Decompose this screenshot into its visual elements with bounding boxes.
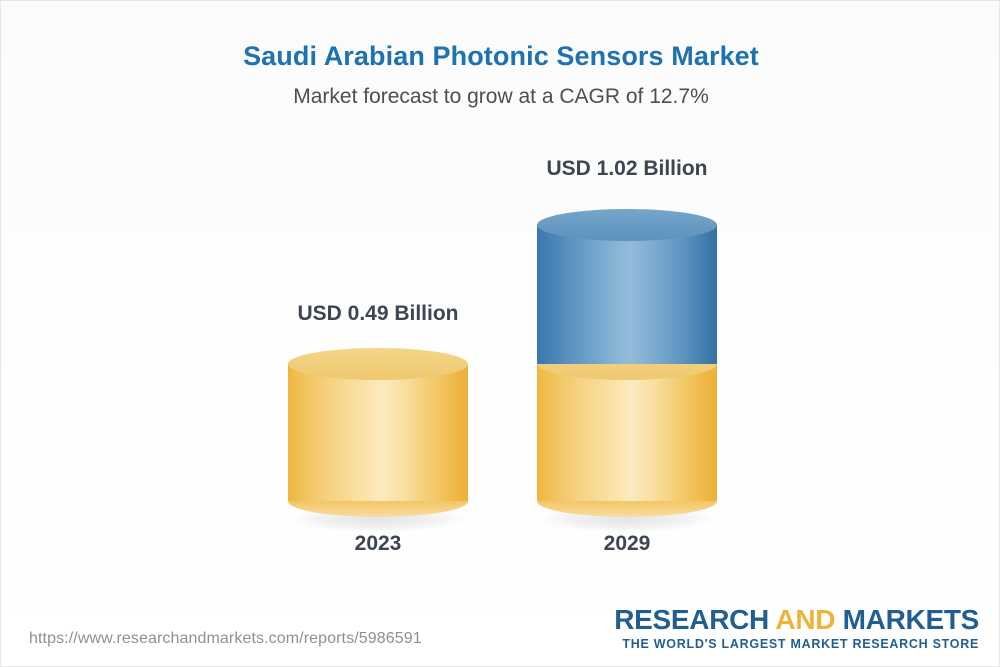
brand-word-research: RESEARCH bbox=[614, 604, 769, 635]
category-label-2023: 2023 bbox=[278, 531, 478, 557]
market-infographic: Saudi Arabian Photonic Sensors Market Ma… bbox=[0, 0, 1000, 667]
cylinder-top-cap-2023 bbox=[288, 348, 468, 380]
brand-name: RESEARCH AND MARKETS bbox=[614, 605, 979, 635]
cylinder-body-2023 bbox=[288, 364, 468, 501]
brand-word-markets: MARKETS bbox=[843, 604, 979, 635]
brand-word-and: AND bbox=[775, 604, 835, 635]
source-url[interactable]: https://www.researchandmarkets.com/repor… bbox=[29, 630, 422, 648]
data-label-2029: USD 1.02 Billion bbox=[527, 156, 727, 182]
chart-footer: https://www.researchandmarkets.com/repor… bbox=[1, 596, 1000, 666]
cylinder-body-upper-2029 bbox=[537, 225, 717, 364]
data-label-2023: USD 0.49 Billion bbox=[278, 301, 478, 327]
chart-plot-area: USD 0.49 Billion 2023 USD 1.02 Billion bbox=[1, 1, 1000, 667]
category-label-2029: 2029 bbox=[527, 531, 727, 557]
cylinder-body-lower-2029 bbox=[537, 364, 717, 501]
brand-tagline: THE WORLD'S LARGEST MARKET RESEARCH STOR… bbox=[614, 636, 979, 652]
cylinder-top-cap-2029 bbox=[537, 209, 717, 241]
brand-logo[interactable]: RESEARCH AND MARKETS THE WORLD'S LARGEST… bbox=[614, 605, 979, 652]
